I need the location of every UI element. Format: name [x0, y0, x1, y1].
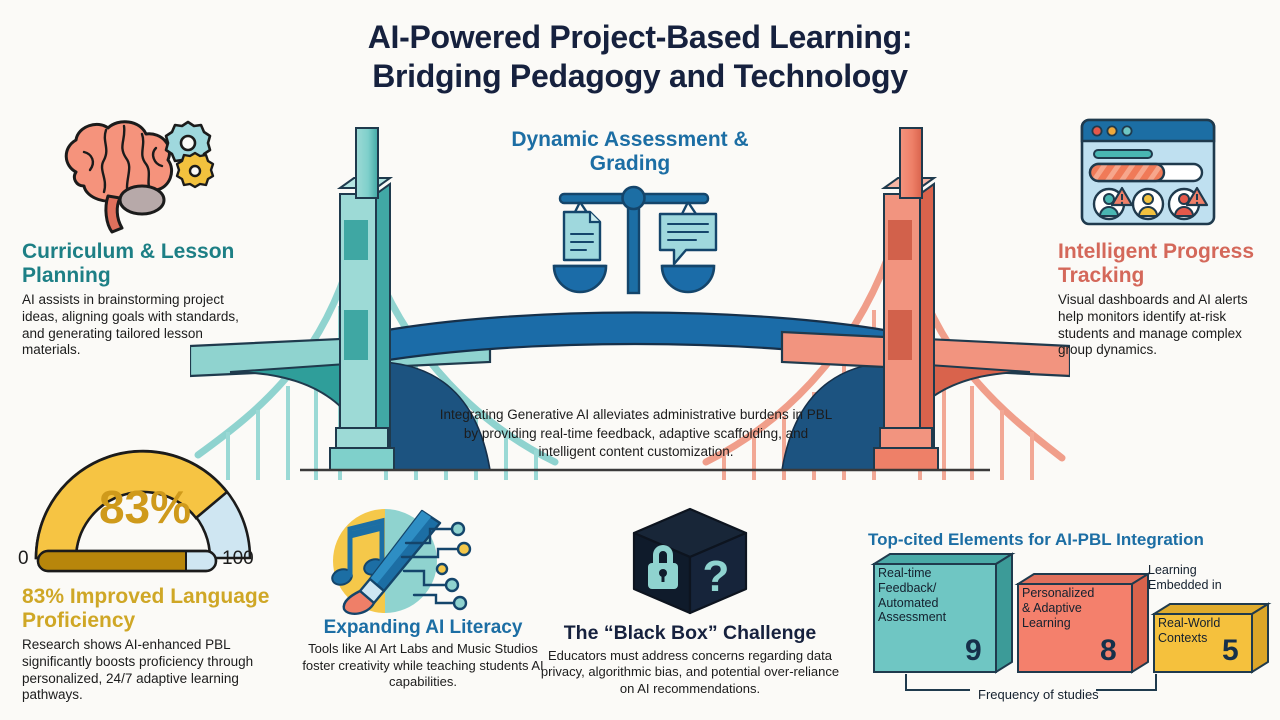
blackbox-body: Educators must address concerns regardin…: [540, 648, 840, 697]
chart-title: Top-cited Elements for AI-PBL Integratio…: [868, 530, 1268, 550]
bar-2-label: Personalized & Adaptive Learning: [1022, 586, 1128, 630]
gauge-max-label: 100: [222, 548, 254, 570]
bridge-center-note: Integrating Generative AI alleviates adm…: [438, 406, 834, 462]
curriculum-body: AI assists in brainstorming project idea…: [22, 292, 240, 359]
curriculum-heading: Curriculum & Lesson Planning: [22, 240, 240, 287]
bridge-left-tower: [330, 128, 394, 470]
literacy-body: Tools like AI Art Labs and Music Studios…: [292, 641, 554, 690]
tracking-heading: Intelligent Progress Tracking: [1058, 240, 1273, 287]
question-mark-icon: ?: [703, 552, 730, 601]
literacy-heading: Expanding AI Literacy: [292, 617, 554, 638]
page-title: AI-Powered Project-Based Learning: Bridg…: [0, 18, 1280, 96]
black-box-block: The “Black Box” Challenge Educators must…: [540, 623, 840, 697]
gauge-percent-value: 83%: [20, 480, 270, 534]
chart-axis-label: Frequency of studies: [978, 687, 1099, 702]
bar-3-outside-label: Learning Embedded in: [1148, 563, 1268, 593]
language-proficiency-block: 83% Improved Language Proficiency Resear…: [22, 585, 272, 704]
document-icon: [564, 212, 600, 260]
gear-small-icon: [177, 153, 213, 187]
blackbox-heading: The “Black Box” Challenge: [540, 623, 840, 645]
language-heading: 83% Improved Language Proficiency: [22, 585, 272, 632]
bar-1-value: 9: [965, 634, 982, 668]
music-paintbrush-circuit-icon: [318, 505, 496, 617]
brain-gears-icon: [46, 112, 216, 237]
bar-3-value: 5: [1222, 634, 1239, 668]
avatar-neutral-2: [1133, 189, 1163, 219]
tracking-block: Intelligent Progress Tracking Visual das…: [1058, 240, 1273, 359]
gauge-linear-bar: [36, 548, 218, 574]
black-box-lock-question-icon: ?: [620, 505, 760, 617]
tracking-body: Visual dashboards and AI alerts help mon…: [1058, 292, 1273, 359]
title-line-1: AI-Powered Project-Based Learning:: [368, 19, 913, 55]
speech-bubble-icon: [660, 214, 716, 264]
infographic-canvas: AI-Powered Project-Based Learning: Bridg…: [0, 0, 1280, 720]
balance-scale-icon: [540, 180, 730, 295]
gauge-min-label: 0: [18, 548, 29, 570]
dashboard-window-icon: [1078, 116, 1218, 228]
bar-3-label: Real-World Contexts: [1158, 616, 1262, 646]
bridge-right-tower: [874, 128, 938, 470]
bar-2-value: 8: [1100, 634, 1117, 668]
assessment-heading: Dynamic Assessment & Grading: [480, 128, 780, 175]
assessment-block: Dynamic Assessment & Grading: [480, 128, 780, 175]
bar-1-label: Real-time Feedback/ Automated Assessment: [878, 566, 988, 625]
language-body: Research shows AI-enhanced PBL significa…: [22, 637, 272, 704]
curriculum-block: Curriculum & Lesson Planning AI assists …: [22, 240, 240, 359]
title-line-2: Bridging Pedagogy and Technology: [0, 57, 1280, 96]
ai-literacy-block: Expanding AI Literacy Tools like AI Art …: [292, 617, 554, 690]
